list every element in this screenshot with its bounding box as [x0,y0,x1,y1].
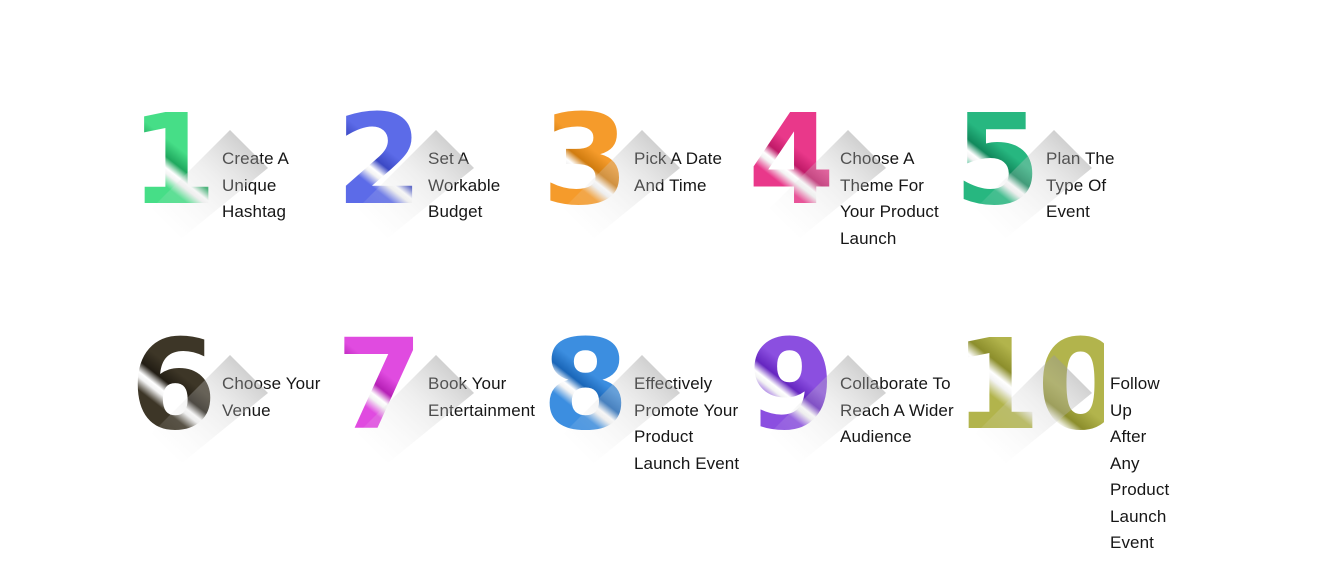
step-item-8: 8Effectively Promote Your Product Launch… [542,313,748,538]
step-label: Choose Your Venue [222,371,322,424]
numeral-glyph: 3 [542,102,628,222]
numeral-glyph: 10 [954,327,1104,447]
step-item-5: 5Plan The Type Of Event [954,88,1160,313]
numeral-glyph: 5 [954,102,1040,222]
numeral-glyph: 8 [542,327,628,447]
step-number-8: 8 [542,327,628,447]
step-item-10: 10Follow Up After Any Product Launch Eve… [954,313,1160,538]
step-number-7: 7 [336,327,422,447]
step-item-4: 4Choose A Theme For Your Product Launch [748,88,954,313]
step-item-2: 2Set A Workable Budget [336,88,542,313]
step-item-6: 6Choose Your Venue [130,313,336,538]
step-label: Collaborate To Reach A Wider Audience [840,371,954,451]
steps-grid: 1Create A Unique Hashtag2Set A Workable … [130,88,1260,538]
step-number-6: 6 [130,327,216,447]
numeral-glyph: 2 [336,102,422,222]
numeral-glyph: 4 [748,102,834,222]
numeral-glyph: 7 [336,327,422,447]
step-number-3: 3 [542,102,628,222]
step-label: Set A Workable Budget [428,146,542,226]
numeral-glyph: 9 [748,327,834,447]
step-label: Book Your Entertainment [428,371,528,424]
step-label: Create A Unique Hashtag [222,146,322,226]
step-label: Effectively Promote Your Product Launch … [634,371,748,477]
step-label: Pick A Date And Time [634,146,734,199]
step-item-3: 3Pick A Date And Time [542,88,748,313]
numeral-glyph: 1 [130,102,216,222]
step-label: Choose A Theme For Your Product Launch [840,146,954,252]
step-number-1: 1 [130,102,216,222]
numeral-glyph: 6 [130,327,216,447]
step-item-9: 9Collaborate To Reach A Wider Audience [748,313,954,538]
step-number-10: 10 [954,327,1104,447]
step-number-2: 2 [336,102,422,222]
step-number-4: 4 [748,102,834,222]
step-number-5: 5 [954,102,1040,222]
step-item-1: 1Create A Unique Hashtag [130,88,336,313]
step-number-9: 9 [748,327,834,447]
step-item-7: 7Book Your Entertainment [336,313,542,538]
step-label: Plan The Type Of Event [1046,146,1146,226]
